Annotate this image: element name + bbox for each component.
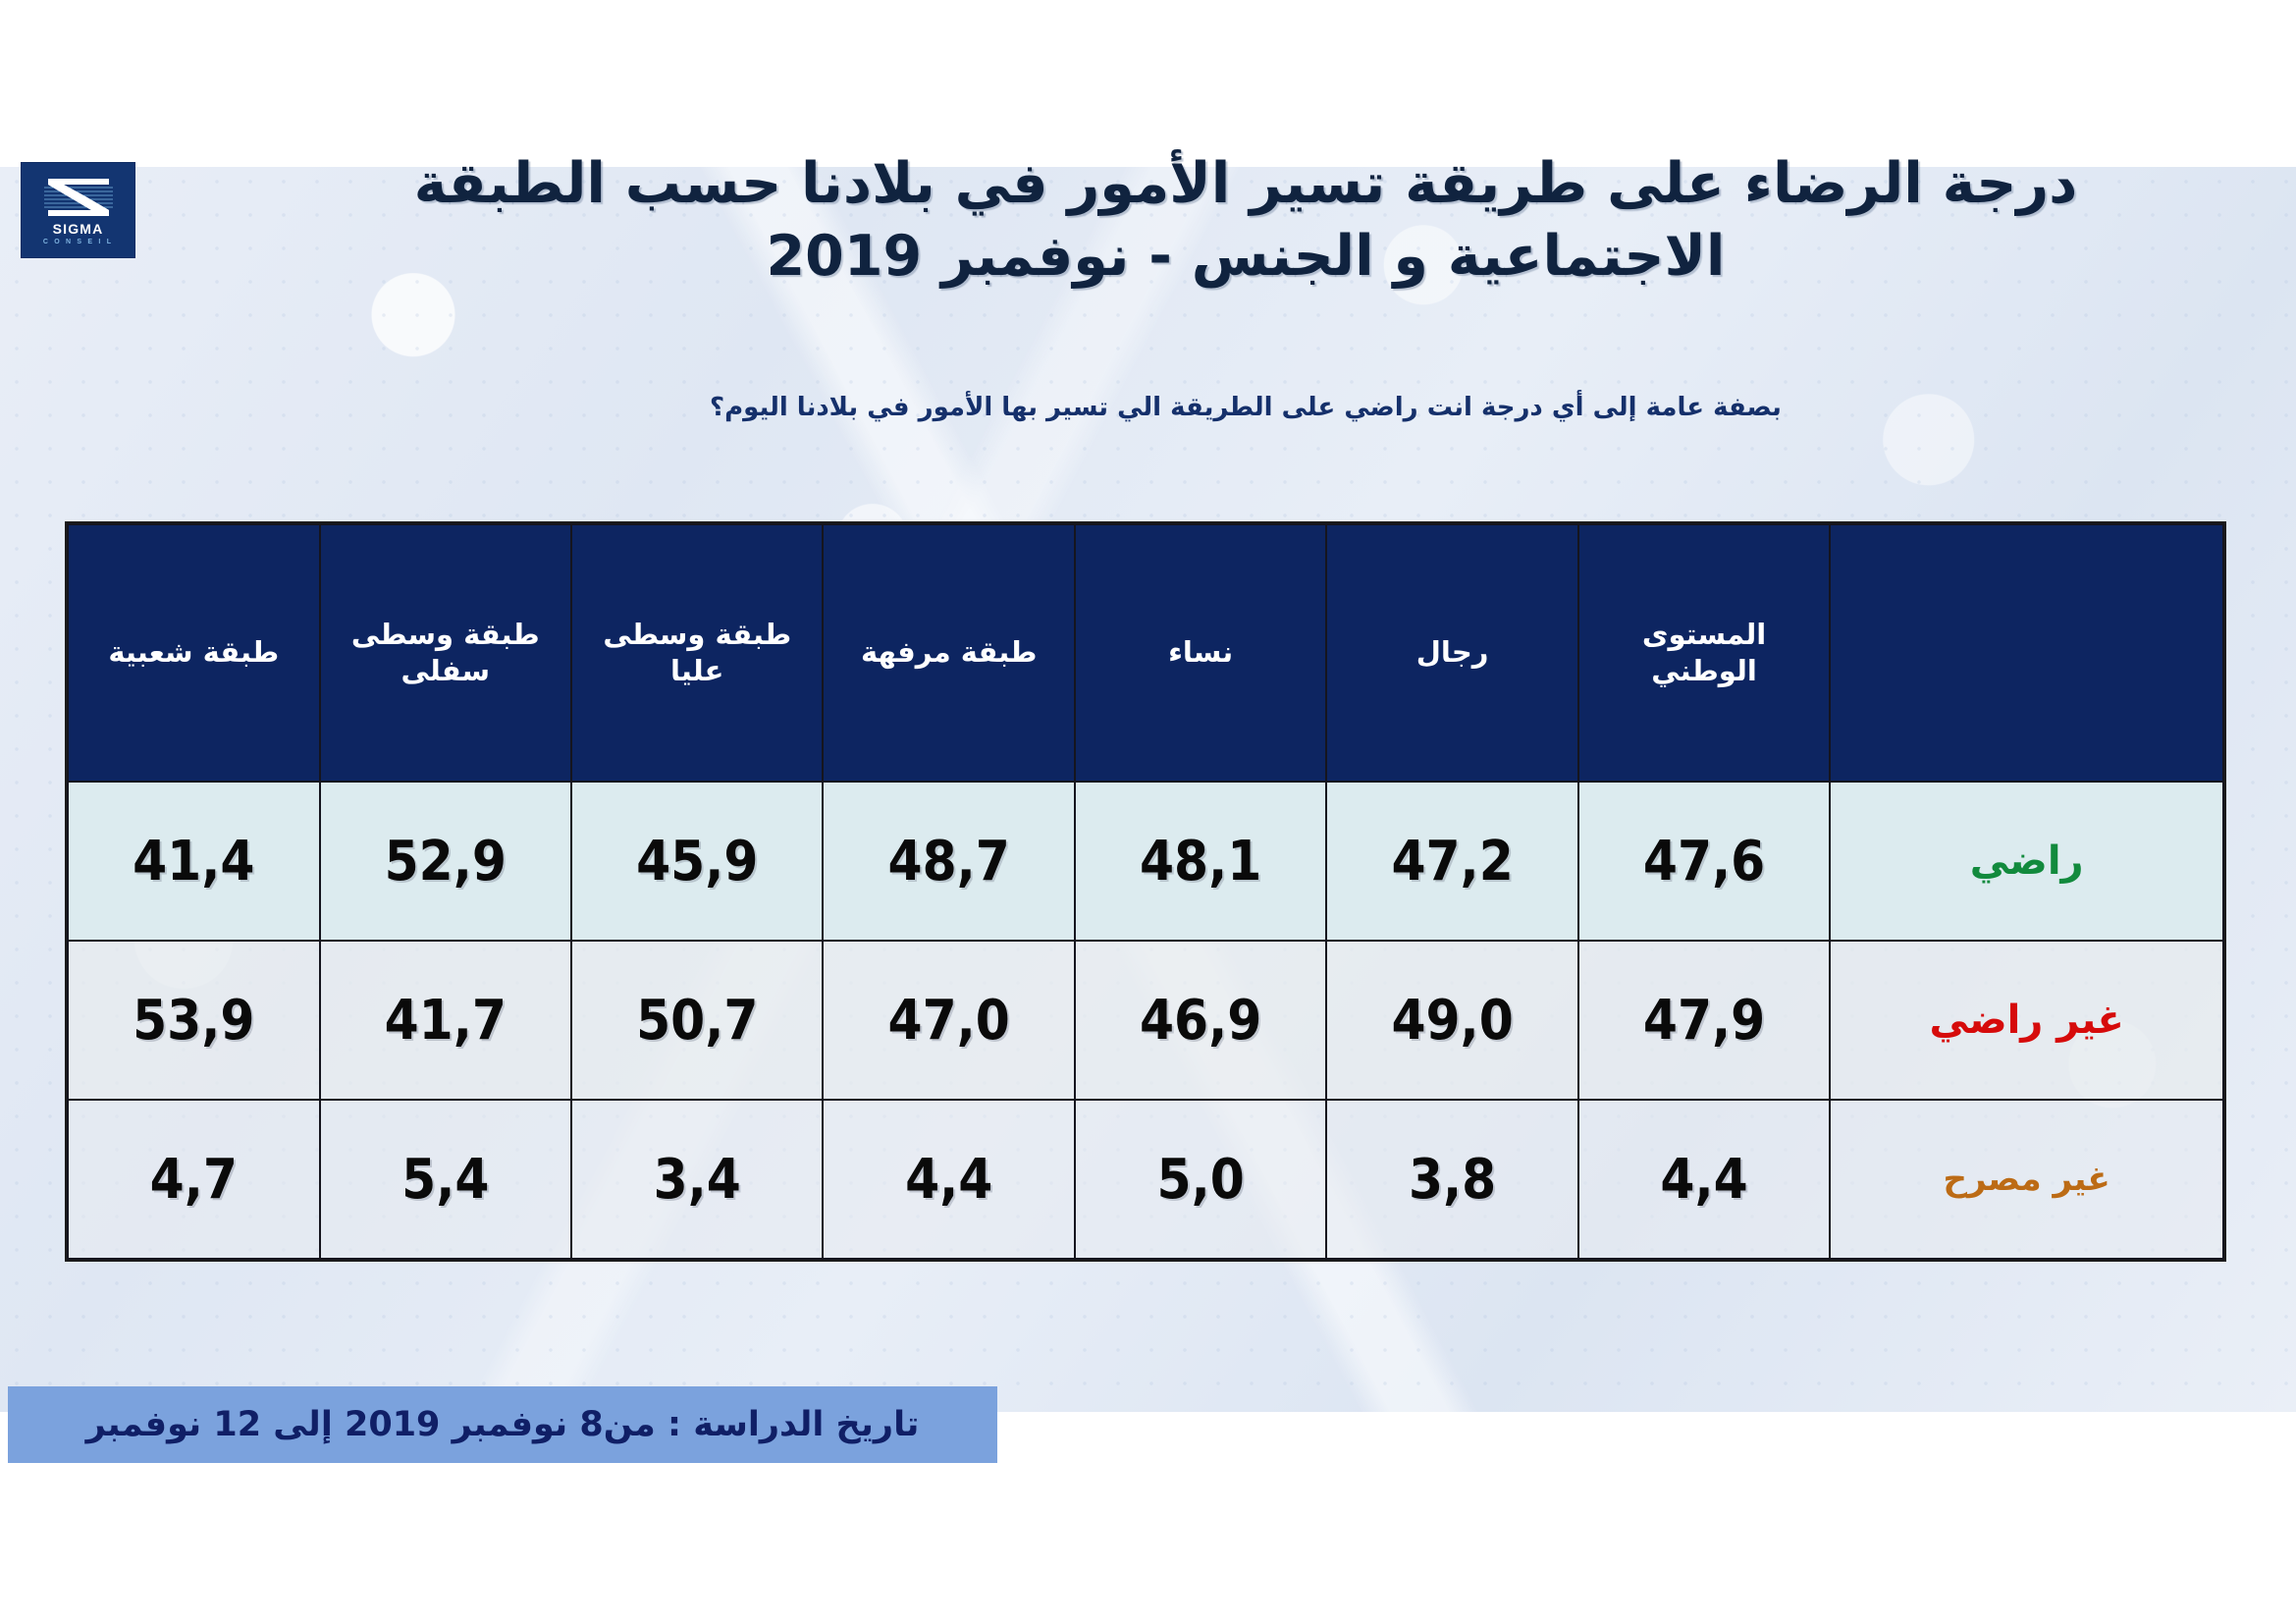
cell-unsatisfied-women: 46,9	[1075, 941, 1326, 1100]
cell-unsatisfied-working-class: 53,9	[68, 941, 320, 1100]
results-table: المستوى الوطني رجال نساء طبقة مرفهة طبقة…	[67, 523, 2224, 1260]
table-header-row: المستوى الوطني رجال نساء طبقة مرفهة طبقة…	[68, 524, 2223, 782]
cell-no-answer-working-class: 4,7	[68, 1100, 320, 1259]
column-header-men: رجال	[1326, 524, 1577, 782]
table-row: غير راضي 47,9 49,0 46,9 47,0 50,7 41,7 5…	[68, 941, 2223, 1100]
slide: SIGMA C O N S E I L درجة الرضاء على طريق…	[0, 0, 2296, 1624]
study-date-text: تاريخ الدراسة : من8 نوفمبر 2019 إلى 12 ن…	[86, 1405, 920, 1444]
cell-no-answer-affluent: 4,4	[823, 1100, 1074, 1259]
page-title-line2: الاجتماعية و الجنس - نوفمبر 2019	[333, 220, 2159, 293]
table-row: راضي 47,6 47,2 48,1 48,7 45,9 52,9 41,4	[68, 782, 2223, 941]
study-date-bar: تاريخ الدراسة : من8 نوفمبر 2019 إلى 12 ن…	[8, 1386, 997, 1463]
cell-satisfied-affluent: 48,7	[823, 782, 1074, 941]
column-header-affluent: طبقة مرفهة	[823, 524, 1074, 782]
cell-no-answer-women: 5,0	[1075, 1100, 1326, 1259]
cell-satisfied-national: 47,6	[1578, 782, 1830, 941]
row-label-no-answer: غير مصرح	[1830, 1100, 2223, 1259]
logo-subtitle: C O N S E I L	[43, 239, 113, 245]
results-table-wrapper: المستوى الوطني رجال نساء طبقة مرفهة طبقة…	[67, 523, 2224, 1260]
cell-satisfied-upper-middle: 45,9	[571, 782, 823, 941]
column-header-lower-middle: طبقة وسطى سفلى	[320, 524, 571, 782]
column-header-national: المستوى الوطني	[1578, 524, 1830, 782]
page-title: درجة الرضاء على طريقة تسير الأمور في بلا…	[333, 147, 2159, 293]
cell-satisfied-lower-middle: 52,9	[320, 782, 571, 941]
cell-unsatisfied-upper-middle: 50,7	[571, 941, 823, 1100]
cell-no-answer-lower-middle: 5,4	[320, 1100, 571, 1259]
top-white-margin	[0, 0, 2296, 167]
column-header-working-class: طبقة شعبية	[68, 524, 320, 782]
survey-question: بصفة عامة إلى أي درجة انت راضي على الطري…	[343, 393, 2149, 423]
cell-unsatisfied-lower-middle: 41,7	[320, 941, 571, 1100]
cell-satisfied-women: 48,1	[1075, 782, 1326, 941]
cell-unsatisfied-affluent: 47,0	[823, 941, 1074, 1100]
column-header-upper-middle: طبقة وسطى عليا	[571, 524, 823, 782]
page-title-line1: درجة الرضاء على طريقة تسير الأمور في بلا…	[333, 147, 2159, 220]
table-row: غير مصرح 4,4 3,8 5,0 4,4 3,4 5,4 4,7	[68, 1100, 2223, 1259]
cell-no-answer-men: 3,8	[1326, 1100, 1577, 1259]
cell-no-answer-national: 4,4	[1578, 1100, 1830, 1259]
cell-satisfied-working-class: 41,4	[68, 782, 320, 941]
cell-unsatisfied-men: 49,0	[1326, 941, 1577, 1100]
row-label-unsatisfied: غير راضي	[1830, 941, 2223, 1100]
cell-unsatisfied-national: 47,9	[1578, 941, 1830, 1100]
cell-satisfied-men: 47,2	[1326, 782, 1577, 941]
column-header-women: نساء	[1075, 524, 1326, 782]
sigma-icon	[42, 175, 115, 220]
logo-wordmark: SIGMA	[53, 222, 104, 236]
table-corner-header	[1830, 524, 2223, 782]
sigma-conseil-logo: SIGMA C O N S E I L	[22, 163, 134, 257]
row-label-satisfied: راضي	[1830, 782, 2223, 941]
cell-no-answer-upper-middle: 3,4	[571, 1100, 823, 1259]
